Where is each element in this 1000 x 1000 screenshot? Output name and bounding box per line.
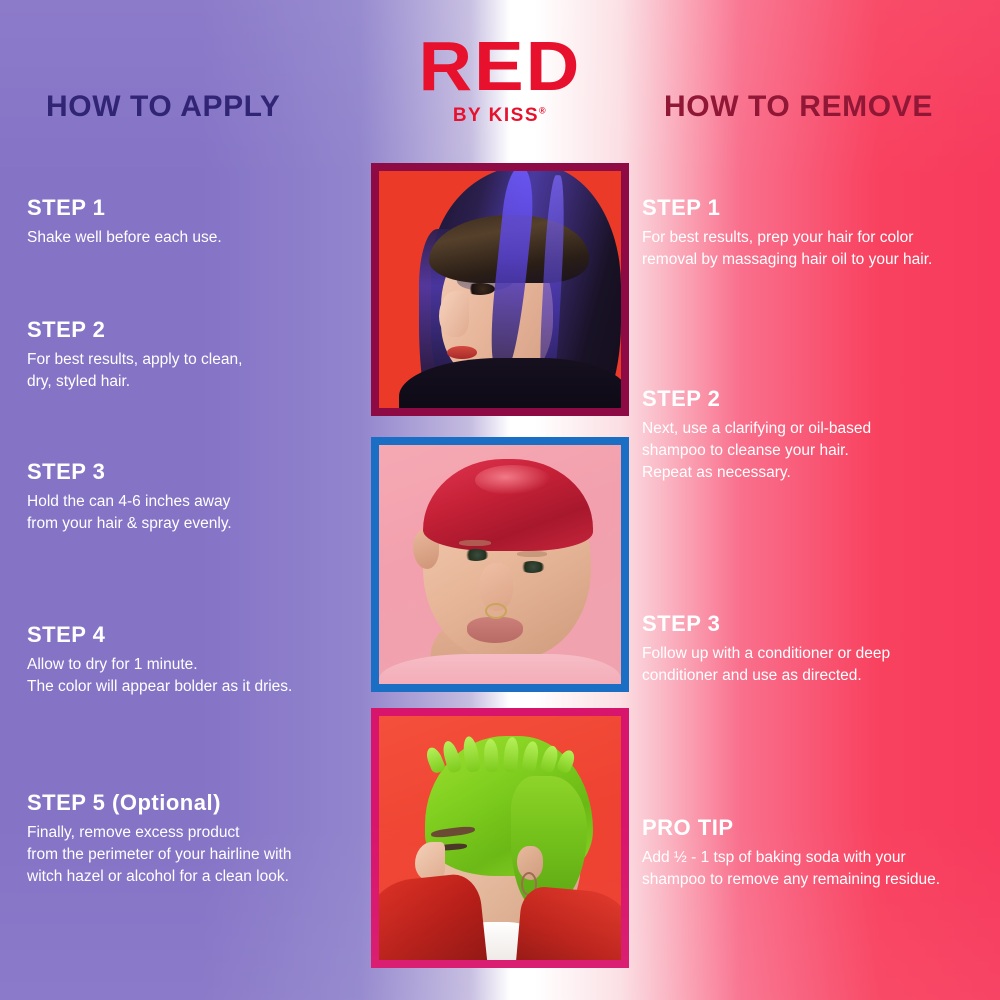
- poster-canvas: RED BY KISS® HOW TO APPLY HOW TO REMOVE …: [0, 0, 1000, 1000]
- remove-pro-tip: PRO TIP Add ½ - 1 tsp of baking soda wit…: [642, 816, 992, 891]
- pro-tip-body: Add ½ - 1 tsp of baking soda with your s…: [642, 847, 992, 891]
- remove-step-3-title: STEP 3: [642, 612, 992, 636]
- photo-2-eye-right: [519, 561, 545, 573]
- brand-logo: RED BY KISS®: [0, 32, 1000, 127]
- apply-step-4-title: STEP 4: [27, 623, 357, 647]
- apply-step-3: STEP 3 Hold the can 4-6 inches away from…: [27, 460, 357, 535]
- apply-step-5: STEP 5 (Optional) Finally, remove excess…: [27, 791, 357, 888]
- logo-tagline: BY KISS®: [453, 105, 547, 127]
- photo-2-lips: [467, 617, 523, 643]
- photo-2-shirt: [379, 654, 621, 684]
- photo-3-hair-spikes: [431, 732, 581, 772]
- logo-tagline-text: BY KISS: [453, 105, 539, 126]
- apply-step-2: STEP 2 For best results, apply to clean,…: [27, 318, 357, 393]
- registered-mark-icon: ®: [539, 105, 547, 115]
- apply-step-3-title: STEP 3: [27, 460, 357, 484]
- photo-2-hair-highlight: [475, 465, 551, 495]
- photo-1-nose: [439, 291, 469, 337]
- photo-2-brow-right: [517, 551, 547, 557]
- apply-step-1-title: STEP 1: [27, 196, 357, 220]
- remove-step-2-title: STEP 2: [642, 387, 992, 411]
- remove-step-1-body: For best results, prep your hair for col…: [642, 227, 992, 271]
- photo-1-lips: [447, 346, 477, 359]
- photo-2-brow-left: [459, 540, 491, 546]
- photo-red-buzzcut: [371, 437, 629, 692]
- photo-green-hair: [371, 708, 629, 968]
- pro-tip-title: PRO TIP: [642, 816, 992, 840]
- photo-2-eye-left: [463, 549, 489, 561]
- remove-step-3: STEP 3 Follow up with a conditioner or d…: [642, 612, 992, 687]
- photo-blue-black-hair: [371, 163, 629, 416]
- photo-1-inner: [379, 171, 621, 408]
- remove-step-1-title: STEP 1: [642, 196, 992, 220]
- apply-step-3-body: Hold the can 4-6 inches away from your h…: [27, 491, 357, 535]
- remove-step-3-body: Follow up with a conditioner or deep con…: [642, 643, 992, 687]
- apply-step-5-body: Finally, remove excess product from the …: [27, 822, 357, 888]
- photo-3-jacket-left: [379, 872, 487, 960]
- photo-3-nose: [415, 842, 445, 880]
- remove-step-2: STEP 2 Next, use a clarifying or oil-bas…: [642, 387, 992, 484]
- photo-3-inner: [379, 716, 621, 960]
- photo-3-jacket-right: [516, 885, 621, 960]
- apply-step-5-title: STEP 5 (Optional): [27, 791, 357, 815]
- logo-wordmark: RED: [0, 32, 1000, 101]
- apply-step-1: STEP 1 Shake well before each use.: [27, 196, 357, 249]
- photo-1-eye: [465, 283, 495, 295]
- apply-step-1-body: Shake well before each use.: [27, 227, 357, 249]
- apply-step-4-body: Allow to dry for 1 minute. The color wil…: [27, 654, 357, 698]
- remove-step-1: STEP 1 For best results, prep your hair …: [642, 196, 992, 271]
- apply-step-2-title: STEP 2: [27, 318, 357, 342]
- photo-2-septum-ring-icon: [485, 603, 507, 619]
- apply-step-2-body: For best results, apply to clean, dry, s…: [27, 349, 357, 393]
- photo-2-inner: [379, 445, 621, 684]
- apply-step-4: STEP 4 Allow to dry for 1 minute. The co…: [27, 623, 357, 698]
- remove-step-2-body: Next, use a clarifying or oil-based sham…: [642, 418, 992, 484]
